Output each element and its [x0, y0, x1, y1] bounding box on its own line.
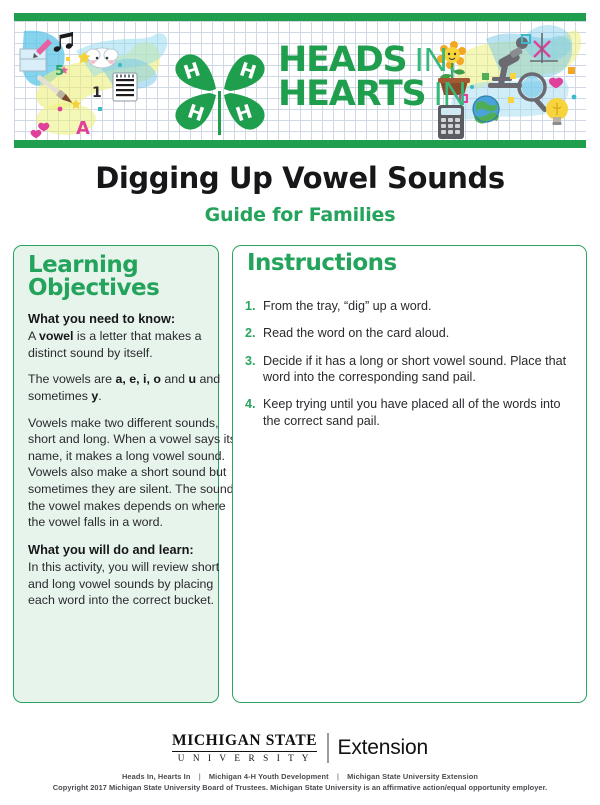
page-title: Digging Up Vowel Sounds [0, 161, 600, 195]
instruction-number: 2. [245, 325, 256, 341]
footer-credits: Heads In, Hearts In | Michigan 4-H Youth… [0, 772, 600, 781]
extension-wordmark: Extension [338, 736, 428, 760]
learning-objectives-panel: Learning Objectives What you need to kno… [13, 245, 219, 703]
credit-separator: | [193, 772, 207, 781]
banner-headline: HEADSIN, HEARTSIN [278, 43, 467, 112]
msu-line-1: MICHIGAN STATE [172, 733, 317, 751]
lo-p1-bold: vowel [39, 329, 73, 343]
trademark-text: 4-H Name & Emblem [202, 139, 245, 140]
header-banner: 5 1 A [14, 13, 586, 148]
instructions-panel: Instructions 1.From the tray, “dig” up a… [232, 245, 587, 703]
svg-text:A: A [76, 118, 90, 139]
headline-line-2: HEARTSIN [278, 77, 467, 111]
lo-paragraph-3: Vowels make two different sounds, short … [28, 415, 240, 531]
lo-paragraph-1: A vowel is a letter that makes a distinc… [28, 328, 240, 361]
logo-divider [327, 733, 328, 763]
will-do-label: What you will do and learn: [28, 541, 240, 558]
instruction-step: 4.Keep trying until you have placed all … [245, 396, 575, 429]
lo-p1-pre: A [28, 329, 39, 343]
credit-4h-youth-development: Michigan 4-H Youth Development [209, 772, 329, 781]
instructions-heading: Instructions [247, 252, 397, 275]
copyright-text: Copyright 2017 Michigan State University… [0, 783, 600, 792]
msu-line-2: U N I V E R S I T Y [172, 752, 317, 763]
banner-decor-left: 5 1 A [14, 21, 174, 140]
banner-top-bar [14, 13, 586, 21]
credit-msu-extension: Michigan State University Extension [347, 772, 478, 781]
instruction-text: Keep trying until you have placed all of… [263, 397, 561, 427]
lo-p2-bold1: a, e, i, o [115, 372, 160, 386]
instruction-text: Read the word on the card aloud. [263, 326, 449, 340]
instruction-number: 4. [245, 396, 256, 412]
instruction-step: 3.Decide if it has a long or short vowel… [245, 353, 575, 386]
four-h-clover-logo: H H H H [166, 41, 274, 140]
banner-bottom-bar [14, 140, 586, 148]
lo-paragraph-4: In this activity, you will review short … [28, 559, 240, 609]
need-to-know-label: What you need to know: [28, 310, 240, 327]
page-subtitle: Guide for Families [0, 204, 600, 226]
lo-paragraph-2: The vowels are a, e, i, o and u and some… [28, 371, 240, 404]
headline-in-1: IN, [415, 41, 457, 78]
instruction-number: 1. [245, 298, 256, 314]
headline-hearts: HEARTS [278, 74, 426, 114]
instructions-list: 1.From the tray, “dig” up a word. 2.Read… [245, 298, 575, 440]
credit-heads-in-hearts-in: Heads In, Hearts In [122, 772, 190, 781]
instruction-step: 2.Read the word on the card aloud. [245, 325, 575, 341]
headline-in-2: IN [434, 75, 467, 112]
lo-p2-end: . [98, 389, 101, 403]
svg-text:1: 1 [92, 85, 102, 101]
msu-extension-logo: MICHIGAN STATE U N I V E R S I T Y Exten… [0, 733, 600, 763]
credit-separator: | [331, 772, 345, 781]
instruction-step: 1.From the tray, “dig” up a word. [245, 298, 575, 314]
lo-p2-bold2: u [188, 372, 196, 386]
instruction-number: 3. [245, 353, 256, 369]
banner-grid-background: 5 1 A [14, 21, 586, 140]
lo-p2-pre: The vowels are [28, 372, 115, 386]
learning-objectives-body: What you need to know: A vowel is a lett… [28, 310, 240, 609]
svg-text:5: 5 [55, 64, 64, 79]
msu-wordmark: MICHIGAN STATE U N I V E R S I T Y [172, 733, 317, 762]
headline-line-1: HEADSIN, [278, 43, 467, 77]
learning-objectives-heading: Learning Objectives [28, 254, 218, 301]
instruction-text: Decide if it has a long or short vowel s… [263, 354, 566, 384]
lo-p2-mid: and [161, 372, 189, 386]
instruction-text: From the tray, “dig” up a word. [263, 299, 431, 313]
